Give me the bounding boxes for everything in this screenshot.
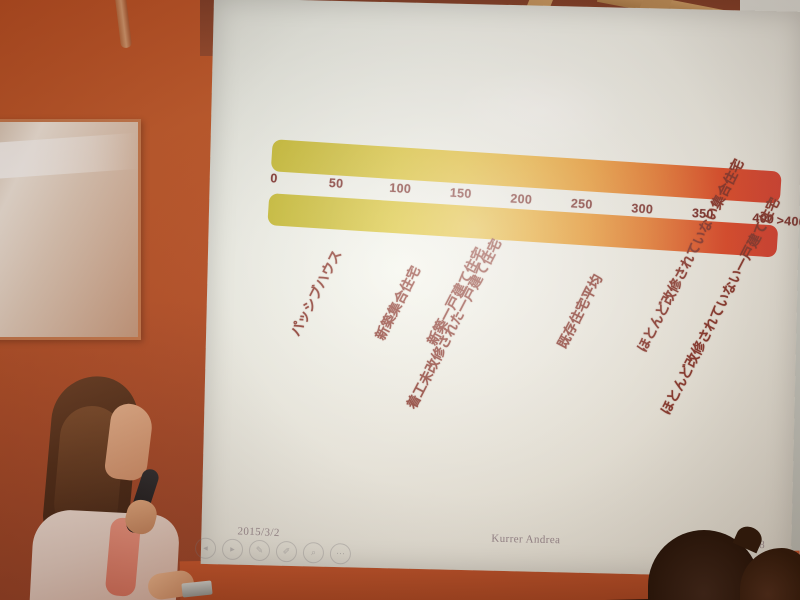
category-label-1: 新築集合住宅 xyxy=(369,262,424,343)
more-options-icon[interactable]: ⋯ xyxy=(330,543,352,565)
highlighter-tool-icon[interactable]: ✐ xyxy=(276,541,298,563)
slide-footer-author: Kurrer Andrea xyxy=(491,533,560,547)
projection-screen: 050100150200250300350400>400 パッシブハウス新築集合… xyxy=(201,0,800,578)
wall-panel-glare xyxy=(0,133,139,179)
photo-of-lecture-room: 050100150200250300350400>400 パッシブハウス新築集合… xyxy=(0,0,800,600)
category-label-4: 既存住宅平均 xyxy=(551,270,606,351)
next-slide-icon[interactable]: ▸ xyxy=(222,538,244,560)
wall-panel xyxy=(0,119,141,340)
category-label-3: 着工未改修された一戸建て住宅 xyxy=(401,235,506,412)
presenter xyxy=(30,372,200,600)
slide-footer-date: 2015/3/2 xyxy=(237,525,280,539)
pen-tool-icon[interactable]: ✎ xyxy=(249,540,271,562)
category-label-5: ほとんど改修されていない集合住宅 xyxy=(631,155,748,355)
category-label-0: パッシブハウス xyxy=(284,246,345,339)
zoom-tool-icon[interactable]: ⌕ xyxy=(303,542,325,564)
